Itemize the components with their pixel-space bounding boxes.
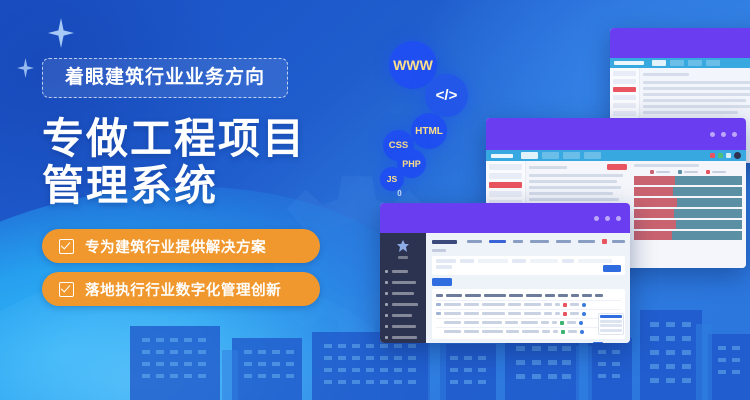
feature-badge-list: 专为建筑行业提供解决方案 落地执行行业数字化管理创新 (42, 229, 352, 306)
nav-item[interactable] (513, 240, 523, 243)
sidebar (380, 233, 426, 343)
list-item (529, 198, 619, 201)
filter-label (436, 259, 456, 263)
chart-title (634, 164, 699, 167)
subtitle-box: 着眼建筑行业业务方向 (42, 58, 288, 98)
sidebar-item[interactable] (380, 277, 426, 288)
check-box-icon (59, 282, 74, 297)
window-titlebar (486, 118, 746, 150)
row-action-icon[interactable] (579, 321, 583, 325)
legend-entry (678, 170, 698, 174)
status-badge (561, 330, 565, 334)
list-item (643, 87, 750, 90)
feature-badge[interactable]: 落地执行行业数字化管理创新 (42, 272, 320, 306)
table-row[interactable] (436, 319, 621, 328)
window-body (380, 233, 630, 343)
window-dot[interactable] (721, 132, 726, 137)
table-row[interactable] (436, 328, 621, 336)
sidebar-item[interactable] (613, 71, 636, 76)
nav-item[interactable] (467, 240, 482, 243)
stacked-bar-row (634, 198, 742, 207)
sidebar-item[interactable] (613, 95, 636, 100)
context-menu[interactable] (598, 313, 624, 335)
window-dot[interactable] (605, 216, 610, 221)
app-title (432, 240, 457, 244)
date-range-input[interactable] (578, 259, 612, 263)
app-header (486, 150, 746, 161)
feature-badge[interactable]: 专为建筑行业提供解决方案 (42, 229, 320, 263)
window-titlebar (610, 28, 750, 58)
window-dot[interactable] (594, 216, 599, 221)
list-item (529, 174, 623, 177)
tab-item[interactable] (542, 152, 559, 159)
tab-item[interactable] (563, 152, 580, 159)
primary-action-button[interactable] (607, 164, 627, 170)
alert-icon[interactable] (710, 153, 715, 158)
context-menu-item[interactable] (600, 324, 622, 327)
filter-label (460, 259, 474, 263)
filter-label (512, 259, 526, 263)
page-number-button[interactable] (593, 342, 603, 344)
content-line (643, 73, 689, 76)
sidebar-item[interactable] (613, 103, 636, 108)
stacked-bar-row (634, 176, 742, 185)
sidebar-item[interactable] (489, 191, 522, 197)
chart-legend (634, 170, 742, 174)
data-table (432, 289, 625, 339)
window-dot[interactable] (616, 216, 621, 221)
nav-item[interactable] (556, 240, 571, 243)
feature-badge-label: 落地执行行业数字化管理创新 (85, 279, 281, 300)
tab-item[interactable] (652, 60, 666, 66)
window-dot[interactable] (732, 132, 737, 137)
tab-item[interactable] (584, 152, 601, 159)
banner-copy: 着眼建筑行业业务方向 专做工程项目 管理系统 专为建筑行业提供解决方案 落地执行… (42, 58, 352, 315)
context-menu-item[interactable] (600, 320, 622, 323)
bubble-zero: 0 (391, 185, 408, 202)
filter-label (436, 265, 452, 269)
sidebar-item[interactable] (380, 288, 426, 299)
sidebar-item-active[interactable] (613, 87, 636, 92)
filter-label (562, 259, 574, 263)
table-row[interactable] (436, 310, 621, 319)
row-action-icon[interactable] (580, 330, 584, 334)
legend-entry (706, 170, 726, 174)
bubble-html: HTML (411, 113, 447, 149)
alert-icon[interactable] (602, 239, 607, 244)
breadcrumb (432, 249, 446, 252)
headline-line-2: 管理系统 (42, 162, 352, 209)
list-item (643, 81, 750, 84)
tab-item[interactable] (670, 60, 684, 66)
stacked-bar-row (634, 231, 742, 240)
sidebar-item-active[interactable] (489, 182, 522, 188)
check-box-icon (59, 239, 74, 254)
sidebar-item[interactable] (613, 79, 636, 84)
list-item (529, 180, 617, 183)
list-item (643, 93, 750, 96)
sidebar-item[interactable] (489, 173, 522, 179)
filter-select[interactable] (530, 259, 558, 263)
status-badge (563, 312, 567, 316)
list-item (643, 99, 746, 102)
context-menu-item[interactable] (600, 329, 622, 332)
main-content (426, 233, 630, 343)
list-item (529, 192, 613, 195)
project-list-dashboard-window[interactable] (380, 203, 630, 343)
status-badge (563, 303, 567, 307)
headline-line-1: 专做工程项目 (42, 115, 352, 162)
tab-item[interactable] (688, 60, 702, 66)
sidebar-item[interactable] (380, 321, 426, 332)
nav-item[interactable] (530, 240, 549, 243)
header-icons (707, 152, 741, 159)
app-logo (491, 154, 513, 158)
sidebar-subtitle (398, 256, 408, 259)
filter-select[interactable] (478, 259, 508, 263)
top-navigation (432, 237, 625, 246)
context-menu-item[interactable] (600, 315, 622, 318)
bubble-code: </> (425, 74, 468, 117)
stacked-bar-row (634, 187, 742, 196)
nav-item[interactable] (578, 240, 595, 243)
legend-entry (650, 170, 670, 174)
tab-item[interactable] (706, 60, 720, 66)
sidebar-item[interactable] (613, 111, 636, 116)
app-header (610, 58, 750, 68)
legend-swatch-icon (650, 170, 654, 174)
table-row[interactable] (436, 301, 621, 310)
sidebar-item[interactable] (489, 164, 522, 170)
pagination (432, 342, 625, 344)
table-header-row (436, 292, 621, 301)
nav-item-active[interactable] (489, 240, 506, 243)
app-logo (614, 61, 644, 65)
list-item (643, 105, 750, 108)
row-action-icon[interactable] (582, 303, 586, 307)
sidebar-item[interactable] (380, 299, 426, 310)
message-icon[interactable] (718, 153, 723, 158)
stacked-bar-row (634, 209, 742, 218)
panel-title (529, 166, 567, 169)
add-button[interactable] (432, 278, 452, 286)
sidebar-item[interactable] (380, 266, 426, 277)
window-titlebar (380, 203, 630, 233)
filter-bar (432, 256, 625, 275)
window-dot[interactable] (710, 132, 715, 137)
feature-badge-label: 专为建筑行业提供解决方案 (85, 236, 266, 257)
settings-icon[interactable] (726, 153, 731, 158)
search-button[interactable] (603, 265, 621, 272)
legend-swatch-icon (706, 170, 710, 174)
chart-panel (630, 161, 746, 268)
list-item (643, 111, 738, 114)
subtitle-text: 着眼建筑行业业务方向 (65, 68, 265, 87)
sidebar-item[interactable] (380, 332, 426, 343)
row-action-icon[interactable] (582, 312, 586, 316)
promo-banner: 着眼建筑行业业务方向 专做工程项目 管理系统 专为建筑行业提供解决方案 落地执行… (0, 0, 750, 400)
status-badge (560, 321, 564, 325)
legend-swatch-icon (678, 170, 682, 174)
sparkle-icon (48, 18, 74, 48)
app-logo-icon (395, 240, 411, 252)
sparkle-icon (17, 58, 34, 78)
sidebar-item[interactable] (380, 310, 426, 321)
stacked-bar-row (634, 220, 742, 229)
avatar[interactable] (734, 152, 741, 159)
tab-item-active[interactable] (521, 152, 538, 159)
list-item (529, 186, 621, 189)
page-title: 专做工程项目 管理系统 (42, 115, 352, 209)
user-menu[interactable] (612, 240, 625, 243)
